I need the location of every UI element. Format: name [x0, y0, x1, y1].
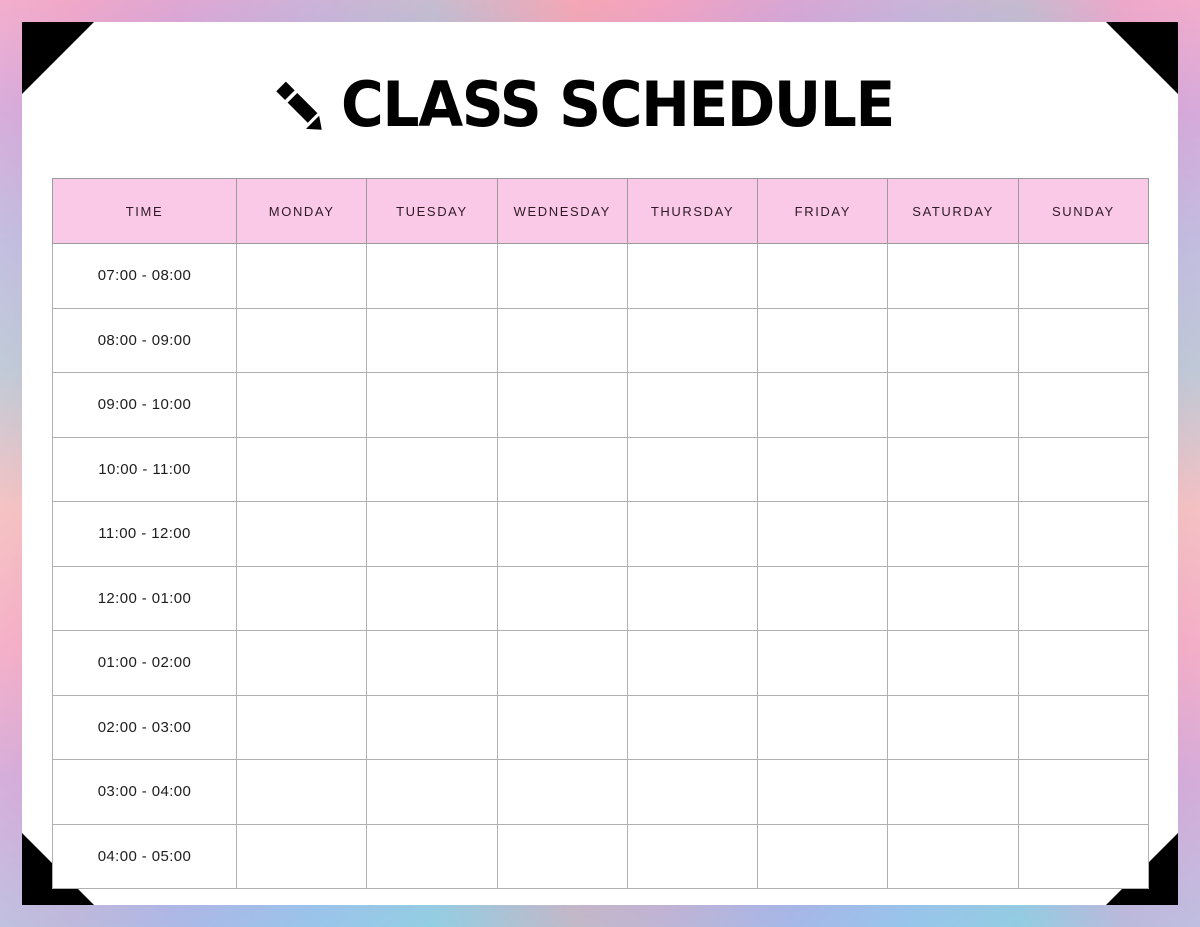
schedule-entry-cell[interactable]	[367, 695, 497, 760]
schedule-entry-cell[interactable]	[1018, 760, 1148, 825]
schedule-entry-cell[interactable]	[888, 437, 1018, 502]
time-slot-cell: 04:00 - 05:00	[53, 824, 237, 889]
schedule-entry-cell[interactable]	[1018, 437, 1148, 502]
column-header-wednesday: WEDNESDAY	[497, 179, 627, 244]
schedule-table: TIME MONDAY TUESDAY WEDNESDAY THURSDAY F…	[52, 178, 1149, 889]
schedule-entry-cell[interactable]	[758, 502, 888, 567]
schedule-entry-cell[interactable]	[497, 631, 627, 696]
schedule-row: 11:00 - 12:00	[53, 502, 1149, 567]
schedule-entry-cell[interactable]	[888, 308, 1018, 373]
schedule-entry-cell[interactable]	[237, 502, 367, 567]
time-slot-cell: 10:00 - 11:00	[53, 437, 237, 502]
time-slot-cell: 07:00 - 08:00	[53, 244, 237, 309]
schedule-entry-cell[interactable]	[237, 566, 367, 631]
schedule-row: 04:00 - 05:00	[53, 824, 1149, 889]
schedule-entry-cell[interactable]	[237, 824, 367, 889]
schedule-entry-cell[interactable]	[367, 437, 497, 502]
schedule-entry-cell[interactable]	[367, 760, 497, 825]
time-slot-cell: 01:00 - 02:00	[53, 631, 237, 696]
schedule-entry-cell[interactable]	[367, 566, 497, 631]
schedule-entry-cell[interactable]	[237, 631, 367, 696]
schedule-entry-cell[interactable]	[758, 566, 888, 631]
schedule-entry-cell[interactable]	[367, 502, 497, 567]
schedule-entry-cell[interactable]	[1018, 566, 1148, 631]
schedule-entry-cell[interactable]	[1018, 631, 1148, 696]
schedule-entry-cell[interactable]	[627, 824, 757, 889]
column-header-friday: FRIDAY	[758, 179, 888, 244]
schedule-entry-cell[interactable]	[497, 760, 627, 825]
schedule-row: 10:00 - 11:00	[53, 437, 1149, 502]
schedule-entry-cell[interactable]	[758, 308, 888, 373]
schedule-entry-cell[interactable]	[237, 437, 367, 502]
schedule-entry-cell[interactable]	[888, 631, 1018, 696]
schedule-table-wrapper: TIME MONDAY TUESDAY WEDNESDAY THURSDAY F…	[52, 178, 1148, 889]
schedule-table-body: 07:00 - 08:0008:00 - 09:0009:00 - 10:001…	[53, 244, 1149, 889]
schedule-entry-cell[interactable]	[1018, 502, 1148, 567]
schedule-entry-cell[interactable]	[758, 631, 888, 696]
schedule-entry-cell[interactable]	[497, 244, 627, 309]
schedule-entry-cell[interactable]	[627, 760, 757, 825]
schedule-entry-cell[interactable]	[1018, 373, 1148, 438]
schedule-row: 01:00 - 02:00	[53, 631, 1149, 696]
schedule-row: 09:00 - 10:00	[53, 373, 1149, 438]
schedule-entry-cell[interactable]	[1018, 695, 1148, 760]
schedule-entry-cell[interactable]	[1018, 244, 1148, 309]
schedule-entry-cell[interactable]	[758, 760, 888, 825]
column-header-monday: MONDAY	[237, 179, 367, 244]
schedule-entry-cell[interactable]	[497, 502, 627, 567]
schedule-entry-cell[interactable]	[627, 695, 757, 760]
schedule-entry-cell[interactable]	[888, 760, 1018, 825]
schedule-entry-cell[interactable]	[758, 824, 888, 889]
schedule-row: 12:00 - 01:00	[53, 566, 1149, 631]
schedule-entry-cell[interactable]	[497, 373, 627, 438]
schedule-entry-cell[interactable]	[237, 308, 367, 373]
schedule-entry-cell[interactable]	[888, 244, 1018, 309]
schedule-entry-cell[interactable]	[497, 437, 627, 502]
schedule-entry-cell[interactable]	[1018, 824, 1148, 889]
schedule-entry-cell[interactable]	[627, 631, 757, 696]
schedule-entry-cell[interactable]	[237, 760, 367, 825]
schedule-entry-cell[interactable]	[367, 373, 497, 438]
column-header-time: TIME	[53, 179, 237, 244]
schedule-entry-cell[interactable]	[627, 373, 757, 438]
schedule-entry-cell[interactable]	[367, 631, 497, 696]
schedule-entry-cell[interactable]	[497, 308, 627, 373]
schedule-entry-cell[interactable]	[888, 373, 1018, 438]
schedule-entry-cell[interactable]	[237, 695, 367, 760]
schedule-entry-cell[interactable]	[758, 695, 888, 760]
schedule-entry-cell[interactable]	[758, 373, 888, 438]
pencil-icon	[271, 79, 327, 135]
time-slot-cell: 11:00 - 12:00	[53, 502, 237, 567]
schedule-entry-cell[interactable]	[627, 308, 757, 373]
schedule-entry-cell[interactable]	[237, 244, 367, 309]
column-header-thursday: THURSDAY	[627, 179, 757, 244]
column-header-saturday: SATURDAY	[888, 179, 1018, 244]
schedule-row: 03:00 - 04:00	[53, 760, 1149, 825]
title-row: CLASS SCHEDULE	[22, 74, 1178, 136]
schedule-entry-cell[interactable]	[367, 244, 497, 309]
time-slot-cell: 08:00 - 09:00	[53, 308, 237, 373]
class-schedule-poster: CLASS SCHEDULE TIME MONDAY TUESDAY WEDNE…	[0, 0, 1200, 927]
schedule-row: 07:00 - 08:00	[53, 244, 1149, 309]
schedule-entry-cell[interactable]	[627, 437, 757, 502]
time-slot-cell: 03:00 - 04:00	[53, 760, 237, 825]
schedule-entry-cell[interactable]	[237, 373, 367, 438]
schedule-entry-cell[interactable]	[888, 566, 1018, 631]
schedule-entry-cell[interactable]	[627, 566, 757, 631]
page-title: CLASS SCHEDULE	[341, 74, 894, 136]
column-header-tuesday: TUESDAY	[367, 179, 497, 244]
white-card: CLASS SCHEDULE TIME MONDAY TUESDAY WEDNE…	[22, 22, 1178, 905]
schedule-entry-cell[interactable]	[1018, 308, 1148, 373]
schedule-entry-cell[interactable]	[888, 502, 1018, 567]
header-row: TIME MONDAY TUESDAY WEDNESDAY THURSDAY F…	[53, 179, 1149, 244]
time-slot-cell: 12:00 - 01:00	[53, 566, 237, 631]
column-header-sunday: SUNDAY	[1018, 179, 1148, 244]
schedule-entry-cell[interactable]	[888, 695, 1018, 760]
schedule-entry-cell[interactable]	[627, 244, 757, 309]
schedule-table-head: TIME MONDAY TUESDAY WEDNESDAY THURSDAY F…	[53, 179, 1149, 244]
schedule-entry-cell[interactable]	[497, 824, 627, 889]
schedule-entry-cell[interactable]	[758, 437, 888, 502]
schedule-entry-cell[interactable]	[367, 824, 497, 889]
schedule-entry-cell[interactable]	[497, 695, 627, 760]
time-slot-cell: 02:00 - 03:00	[53, 695, 237, 760]
schedule-entry-cell[interactable]	[497, 566, 627, 631]
schedule-entry-cell[interactable]	[627, 502, 757, 567]
schedule-entry-cell[interactable]	[367, 308, 497, 373]
schedule-entry-cell[interactable]	[888, 824, 1018, 889]
time-slot-cell: 09:00 - 10:00	[53, 373, 237, 438]
schedule-row: 02:00 - 03:00	[53, 695, 1149, 760]
schedule-row: 08:00 - 09:00	[53, 308, 1149, 373]
schedule-entry-cell[interactable]	[758, 244, 888, 309]
